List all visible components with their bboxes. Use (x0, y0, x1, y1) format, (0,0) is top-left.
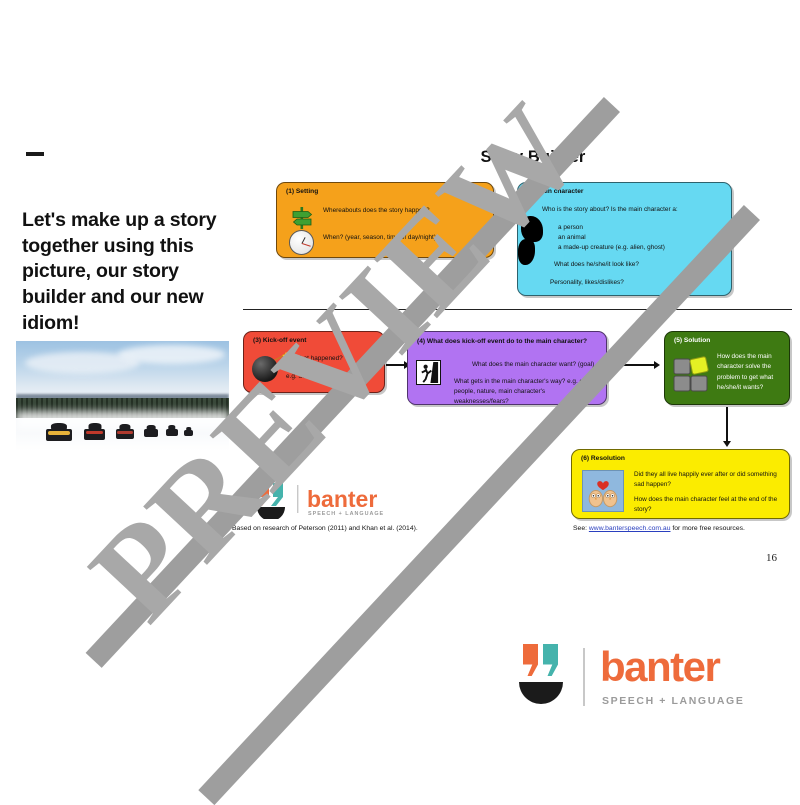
banter-logo: banter SPEECH + LANGUAGE (505, 640, 745, 720)
bullet-dash (26, 152, 44, 156)
arrow-kickoff-to-conflict (386, 364, 404, 366)
svg-text:SPEECH + LANGUAGE: SPEECH + LANGUAGE (308, 511, 384, 517)
photo-cloud (118, 345, 225, 364)
box-line: Did they all live happily ever after or … (634, 470, 782, 490)
sled-hood (48, 431, 70, 435)
climbing-person-icon (416, 360, 441, 385)
logo-wordmark: banter (600, 646, 719, 688)
story-box-setting: (1) Setting Whereabouts does the story h… (276, 182, 494, 258)
snowmobile (116, 429, 134, 439)
box-line: What happened? (294, 354, 343, 364)
box-line: What does he/she/it look like? (554, 260, 639, 270)
box-line: e.g. Suddenly... One day... (286, 372, 378, 382)
arrow-head-icon (723, 441, 731, 447)
rider (119, 424, 130, 430)
rider (88, 423, 101, 430)
arrow-conflict-to-solution (610, 364, 654, 366)
sled-hood (86, 431, 104, 435)
box-line: Whereabouts does the story happen? (323, 206, 483, 216)
box-line: What gets in the main character's way? e… (454, 377, 599, 407)
section-divider (243, 309, 792, 310)
smile-icon (519, 682, 563, 704)
logo-tagline: SPEECH + LANGUAGE (602, 695, 744, 707)
svg-text:banter: banter (307, 486, 377, 512)
box-line: a person (558, 223, 583, 233)
snowmobile (166, 429, 178, 436)
box-heading: (5) Solution (674, 337, 710, 344)
snowmobile (184, 430, 193, 436)
box-line: How does the main character feel at the … (634, 495, 782, 515)
box-line: Personality, likes/dislikes? (550, 278, 624, 288)
box-line: a made-up creature (e.g. alien, ghost) (558, 243, 665, 253)
sled-hood (117, 431, 132, 434)
signpost-icon (289, 205, 315, 231)
footnote-resources: See: www.banterspeech.com.au for more fr… (573, 525, 745, 532)
lead-paragraph: Let's make up a story together using thi… (22, 208, 240, 337)
story-box-solution: (5) Solution How does the main character… (664, 331, 790, 405)
snowmobile-photo (16, 341, 229, 451)
snowmobile (46, 429, 72, 441)
footnote-suffix: for more free resources. (670, 525, 744, 532)
slide-canvas: Let's make up a story together using thi… (0, 0, 800, 800)
page-number: 16 (766, 552, 777, 564)
quote-mark-orange-icon (523, 644, 538, 676)
clock-icon (289, 230, 314, 255)
puzzle-icon (673, 354, 715, 398)
banter-logo-small: banter SPEECH + LANGUAGE (245, 481, 430, 519)
box-line: an animal (558, 233, 586, 243)
box-heading: (6) Resolution (581, 455, 625, 462)
box-heading: (4) What does kick-off event do to the m… (417, 337, 597, 347)
footnote-research: Based on research of Peterson (2011) and… (232, 525, 418, 532)
arrow-solution-to-resolution (726, 407, 728, 441)
box-heading: (2) Main character (527, 188, 583, 195)
story-box-conflict: (4) What does kick-off event do to the m… (407, 331, 607, 405)
story-box-resolution: (6) Resolution Did they all live happily… (571, 449, 790, 519)
handout-title: Story Builder (443, 148, 623, 167)
arrow-head-icon (654, 361, 660, 369)
box-line: How does the main character solve the pr… (717, 352, 787, 393)
rider (186, 427, 192, 431)
box-line: When? (year, season, time of day/night) (323, 233, 489, 243)
owls-heart-icon (582, 470, 624, 512)
box-heading: (1) Setting (286, 188, 318, 195)
story-box-main-character: (2) Main character Who is the story abou… (517, 182, 732, 296)
fuse-spark-icon (274, 352, 290, 361)
rider (168, 425, 175, 429)
footnote-prefix: See: (573, 525, 589, 532)
logo-divider (583, 648, 585, 706)
box-heading: (3) Kick-off event (253, 337, 307, 344)
quote-mark-teal-icon (543, 644, 558, 676)
box-line: What does the main character want? (goal… (472, 360, 602, 370)
snowmobile (84, 429, 105, 440)
snowmobile (144, 429, 158, 437)
rider (51, 423, 67, 430)
story-box-kickoff: (3) Kick-off event What happened? e.g. S… (243, 331, 385, 393)
banterspeech-link[interactable]: www.banterspeech.com.au (589, 525, 671, 532)
box-line: Who is the story about? Is the main char… (542, 205, 732, 215)
rider (147, 425, 156, 430)
